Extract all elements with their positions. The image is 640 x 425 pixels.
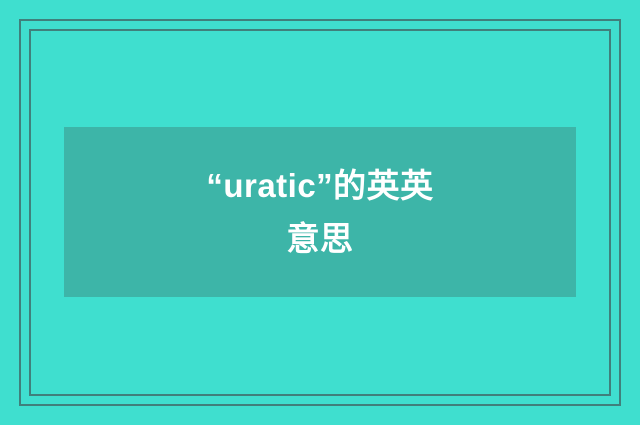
title-panel: “uratic”的英英意思 (64, 127, 576, 297)
page-title: “uratic”的英英意思 (191, 159, 449, 266)
title-card: “uratic”的英英意思 (0, 0, 640, 425)
